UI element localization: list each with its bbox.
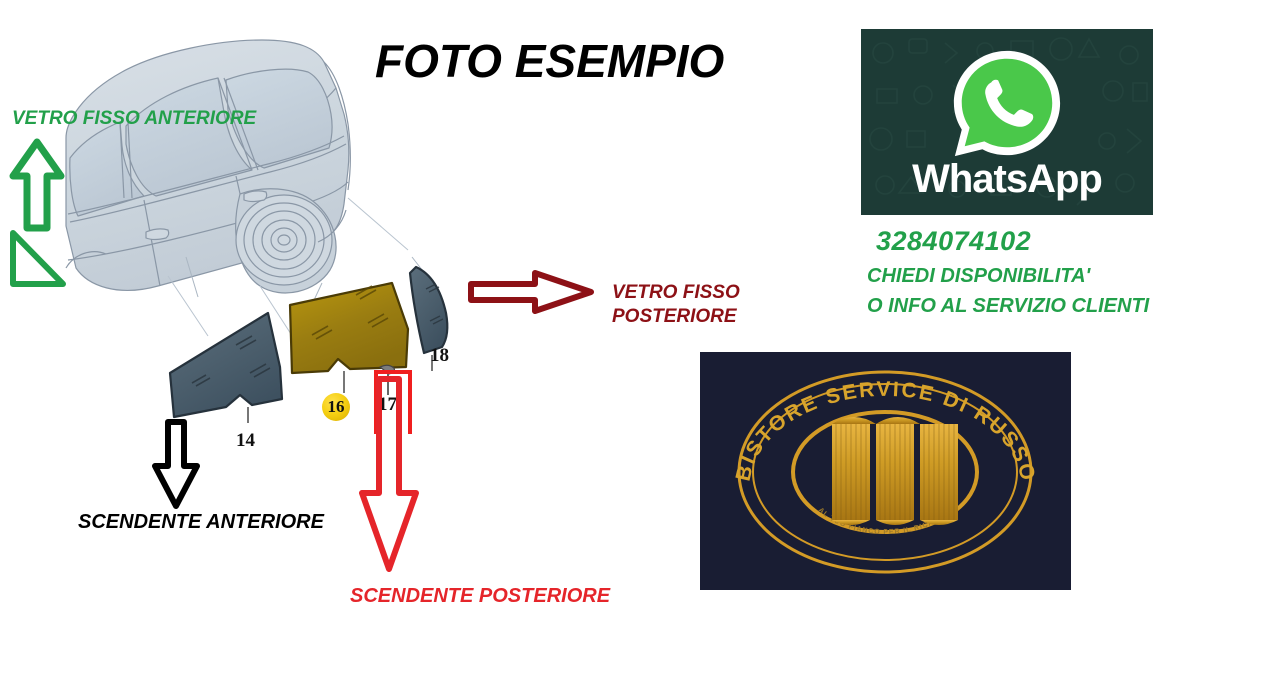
whatsapp-wordmark: WhatsApp: [861, 157, 1153, 202]
contact-availability-line: CHIEDI DISPONIBILITA': [867, 265, 1090, 288]
label-scendente-anteriore: SCENDENTE ANTERIORE: [78, 511, 324, 533]
part-number-16-badge: 16: [322, 393, 350, 421]
green-up-arrow-icon: [8, 138, 66, 233]
label-line-1: VETRO FISSO: [612, 281, 740, 305]
contact-service-line: O INFO AL SERVIZIO CLIENTI: [867, 295, 1149, 318]
part-number-14: 14: [236, 430, 255, 452]
page-title: FOTO ESEMPIO: [375, 34, 795, 88]
label-vetro-fisso-posteriore: VETRO FISSO POSTERIORE: [612, 281, 740, 329]
dark-red-right-arrow-icon: [467, 268, 597, 316]
whatsapp-phone-number[interactable]: 3284074102: [876, 226, 1031, 257]
green-triangle-icon: [8, 228, 68, 290]
label-vetro-fisso-anteriore: VETRO FISSO ANTERIORE: [12, 108, 256, 129]
label-scendente-posteriore: SCENDENTE POSTERIORE: [350, 585, 610, 607]
black-down-arrow-icon: [150, 418, 202, 510]
label-line-2: POSTERIORE: [612, 305, 740, 329]
part-14-shape: [170, 313, 282, 423]
shop-logo: MRICAMBISTORE SERVICE DI RUSSO MARCO AL …: [700, 352, 1071, 590]
whatsapp-banner[interactable]: WhatsApp: [861, 29, 1153, 215]
part-number-18: 18: [430, 345, 449, 367]
red-down-arrow-icon: [357, 375, 421, 575]
whatsapp-logo-icon: [948, 45, 1066, 163]
